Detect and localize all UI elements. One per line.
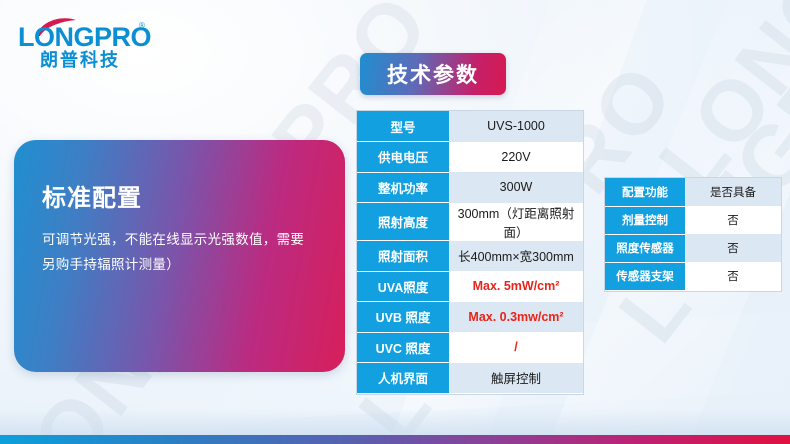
spec-table-value-cell: Max. 5mW/cm² [449, 271, 583, 302]
config-table: 配置功能是否具备剂量控制否照度传感器否传感器支架否 [604, 177, 782, 292]
spec-table-row: 照射高度300mm（灯距离照射面） [357, 203, 583, 241]
spec-table-value-cell: Max. 0.3mw/cm² [449, 302, 583, 333]
spec-table-key-cell: UVC 照度 [357, 332, 449, 363]
config-table-key-cell: 剂量控制 [605, 206, 685, 234]
section-title-banner: 技术参数 [360, 53, 506, 95]
spec-table-key-cell: 照射面积 [357, 241, 449, 272]
config-table-key-cell: 传感器支架 [605, 262, 685, 290]
logo-chinese-name: 朗普科技 [40, 46, 120, 72]
spec-table-row: UVB 照度Max. 0.3mw/cm² [357, 302, 583, 333]
standard-configuration-card: 标准配置 可调节光强，不能在线显示光强数值，需要另购手持辐照计测量） [14, 140, 345, 372]
config-table-row: 配置功能是否具备 [605, 178, 781, 206]
spec-table-value-cell: 300mm（灯距离照射面） [449, 203, 583, 241]
spec-table-key-cell: 供电电压 [357, 142, 449, 173]
spec-table-key-cell: 整机功率 [357, 172, 449, 203]
standard-config-description: 可调节光强，不能在线显示光强数值，需要另购手持辐照计测量） [42, 227, 317, 277]
config-table-value-cell: 否 [685, 234, 781, 262]
spec-table-row: 供电电压220V [357, 142, 583, 173]
spec-table-value-cell: 长400mm×宽300mm [449, 241, 583, 272]
spec-table-row: 型号UVS-1000 [357, 111, 583, 142]
spec-table-key-cell: UVB 照度 [357, 302, 449, 333]
spec-table-row: 人机界面触屏控制 [357, 363, 583, 394]
spec-table-key-cell: UVA照度 [357, 271, 449, 302]
company-logo: LONGPRO ® 朗普科技 [18, 12, 158, 62]
spec-table-key-cell: 照射高度 [357, 203, 449, 241]
config-table-row: 传感器支架否 [605, 262, 781, 290]
footer-shade [0, 409, 790, 435]
spec-table-row: 照射面积长400mm×宽300mm [357, 241, 583, 272]
spec-table-value-cell: UVS-1000 [449, 111, 583, 142]
config-table-key-cell: 照度传感器 [605, 234, 685, 262]
spec-table-value-cell: 300W [449, 172, 583, 203]
config-table-row: 剂量控制否 [605, 206, 781, 234]
spec-table-row: UVC 照度/ [357, 332, 583, 363]
standard-config-title: 标准配置 [42, 178, 317, 213]
spec-table-row: 整机功率300W [357, 172, 583, 203]
spec-table: 型号UVS-1000供电电压220V整机功率300W照射高度300mm（灯距离照… [356, 110, 584, 395]
config-table-row: 照度传感器否 [605, 234, 781, 262]
config-table-body: 配置功能是否具备剂量控制否照度传感器否传感器支架否 [605, 178, 781, 291]
spec-table-body: 型号UVS-1000供电电压220V整机功率300W照射高度300mm（灯距离照… [357, 111, 583, 394]
spec-table-value-cell: 触屏控制 [449, 363, 583, 394]
section-title-text: 技术参数 [387, 59, 479, 89]
footer-gradient-bar [0, 435, 790, 444]
spec-table-value-cell: / [449, 332, 583, 363]
config-table-value-cell: 是否具备 [685, 178, 781, 206]
config-table-value-cell: 否 [685, 206, 781, 234]
spec-table-key-cell: 人机界面 [357, 363, 449, 394]
spec-table-value-cell: 220V [449, 142, 583, 173]
spec-table-row: UVA照度Max. 5mW/cm² [357, 271, 583, 302]
logo-registered-mark: ® [139, 21, 145, 30]
config-table-value-cell: 否 [685, 262, 781, 290]
slide-canvas: LONGPRO LONGPRO LONGPRO LONGPRO LONGPRO … [0, 0, 790, 444]
spec-table-key-cell: 型号 [357, 111, 449, 142]
config-table-key-cell: 配置功能 [605, 178, 685, 206]
